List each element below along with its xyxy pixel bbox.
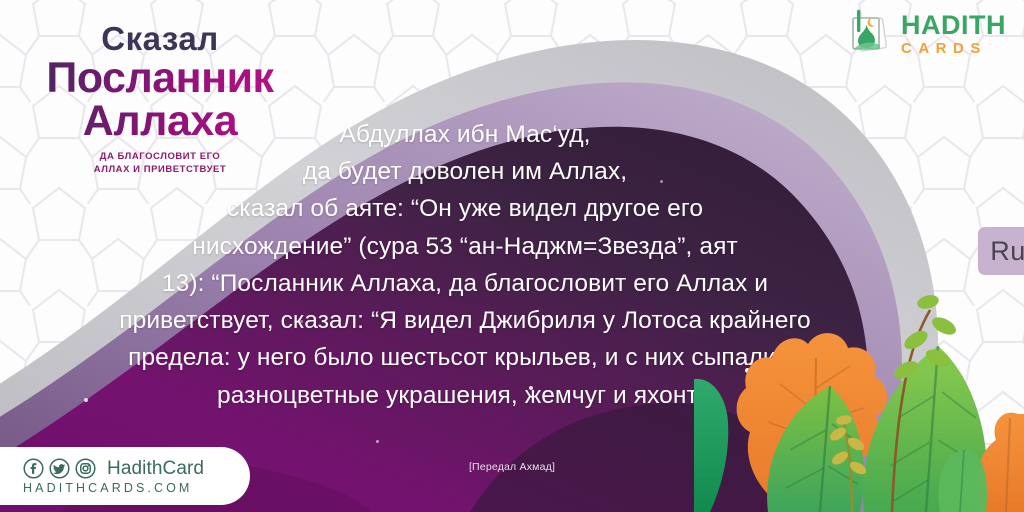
footer-brand-name: HadithCard xyxy=(107,458,204,480)
footer-website-url[interactable]: HADITHCARDS.COM xyxy=(23,481,250,495)
logo-cards-text: CARDS xyxy=(901,41,1006,56)
hadith-line: сказал об аяте: “Он уже видел другое его xyxy=(60,190,870,227)
hadith-line: да будет доволен им Аллах, xyxy=(60,153,870,190)
mosque-photo-icon xyxy=(842,8,894,60)
title-line-messenger: Посланник xyxy=(0,57,320,100)
footer-social-row: HadithCard xyxy=(23,458,250,480)
hadith-card: Сказал Посланник Аллаха ДА БЛАГОСЛОВИТ Е… xyxy=(0,0,1024,512)
language-badge-ru[interactable]: Ru xyxy=(978,227,1024,275)
sparkle-dot xyxy=(376,440,379,443)
foliage-decoration xyxy=(694,262,1024,512)
footer-social-pill[interactable]: HadithCard HADITHCARDS.COM xyxy=(0,447,250,505)
twitter-icon[interactable] xyxy=(49,458,70,479)
hadith-line: Абдуллах ибн Мас‘уд, xyxy=(60,116,870,153)
logo-wordmark: HADITH CARDS xyxy=(901,12,1006,56)
instagram-icon[interactable] xyxy=(75,458,96,479)
hadith-cards-logo[interactable]: HADITH CARDS xyxy=(842,8,1006,60)
title-line-said: Сказал xyxy=(0,22,320,57)
facebook-icon[interactable] xyxy=(23,458,44,479)
logo-hadith-text: HADITH xyxy=(901,12,1006,39)
hadith-line: нисхождение” (сура 53 “ан-Наджм=Звезда”,… xyxy=(60,228,870,265)
language-badge-label: Ru xyxy=(990,236,1024,267)
